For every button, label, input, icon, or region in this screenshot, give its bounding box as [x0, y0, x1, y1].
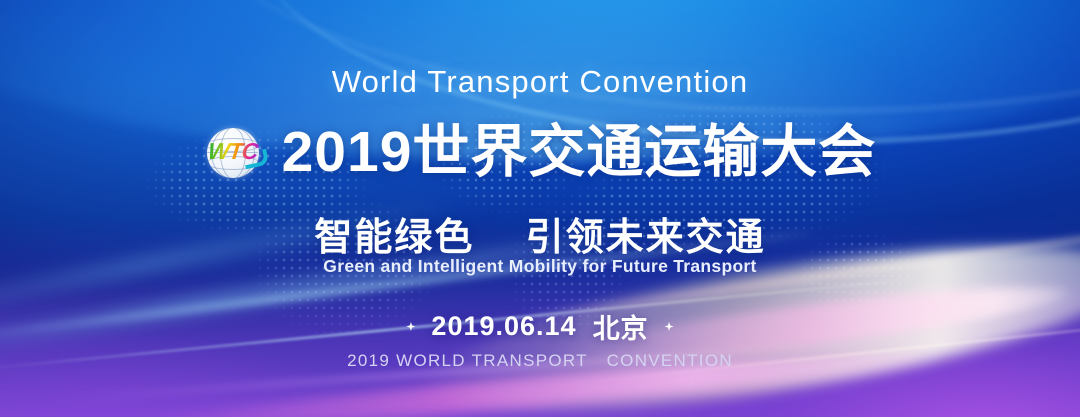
wtc-conference-banner: World Transport Convention WTC 2019世界交通运… — [0, 0, 1080, 417]
wtc-globe-logo: WTC — [204, 127, 266, 179]
event-date: 2019.06.14 — [431, 311, 576, 342]
footer-english-part1: 2019 WORLD TRANSPORT — [347, 351, 587, 370]
chinese-tagline-part2: 引领未来交通 — [526, 217, 766, 259]
diamond-icon-left — [406, 322, 415, 331]
chinese-tagline: 智能绿色 引领未来交通 — [0, 206, 1080, 261]
banner-content: World Transport Convention WTC 2019世界交通运… — [0, 0, 1080, 417]
page-title: 2019世界交通运输大会 — [282, 124, 877, 181]
title-row: WTC 2019世界交通运输大会 — [0, 124, 1080, 181]
footer-english-title: 2019 WORLD TRANSPORT CONVENTION — [0, 351, 1080, 371]
date-location-row: 2019.06.14 北京 — [0, 307, 1080, 346]
diamond-icon-right — [665, 322, 674, 331]
banner-eyebrow-title: World Transport Convention — [0, 64, 1080, 100]
footer-english-part2: CONVENTION — [607, 351, 733, 370]
chinese-tagline-part1: 智能绿色 — [314, 217, 474, 259]
event-city: 北京 — [593, 307, 649, 346]
english-tagline: Green and Intelligent Mobility for Futur… — [0, 256, 1080, 277]
